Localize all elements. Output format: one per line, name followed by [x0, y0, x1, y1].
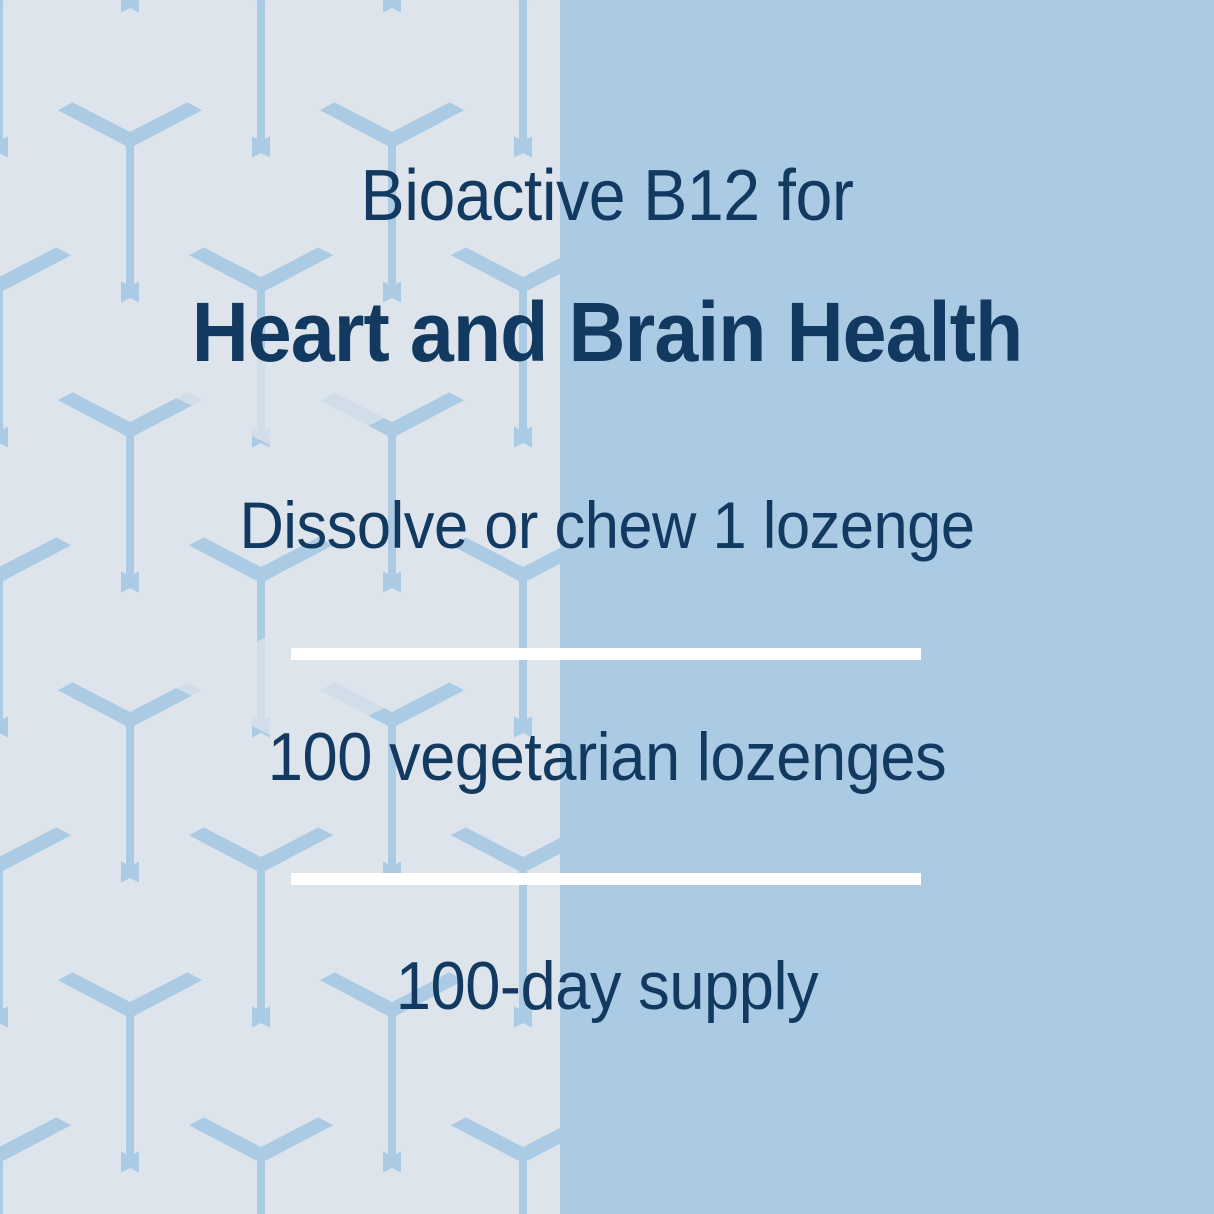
banner-content: Bioactive B12 for Heart and Brain Health… [0, 0, 1214, 1214]
divider-below-count [291, 873, 921, 885]
count-text: 100 vegetarian lozenges [42, 723, 1171, 791]
supply-text: 100-day supply [42, 952, 1171, 1020]
product-feature-banner: Bioactive B12 for Heart and Brain Health… [0, 0, 1214, 1214]
directions-text: Dissolve or chew 1 lozenge [42, 492, 1171, 558]
page-title: Heart and Brain Health [36, 290, 1177, 374]
divider-above-count [291, 648, 921, 660]
eyebrow-text: Bioactive B12 for [49, 160, 1166, 232]
